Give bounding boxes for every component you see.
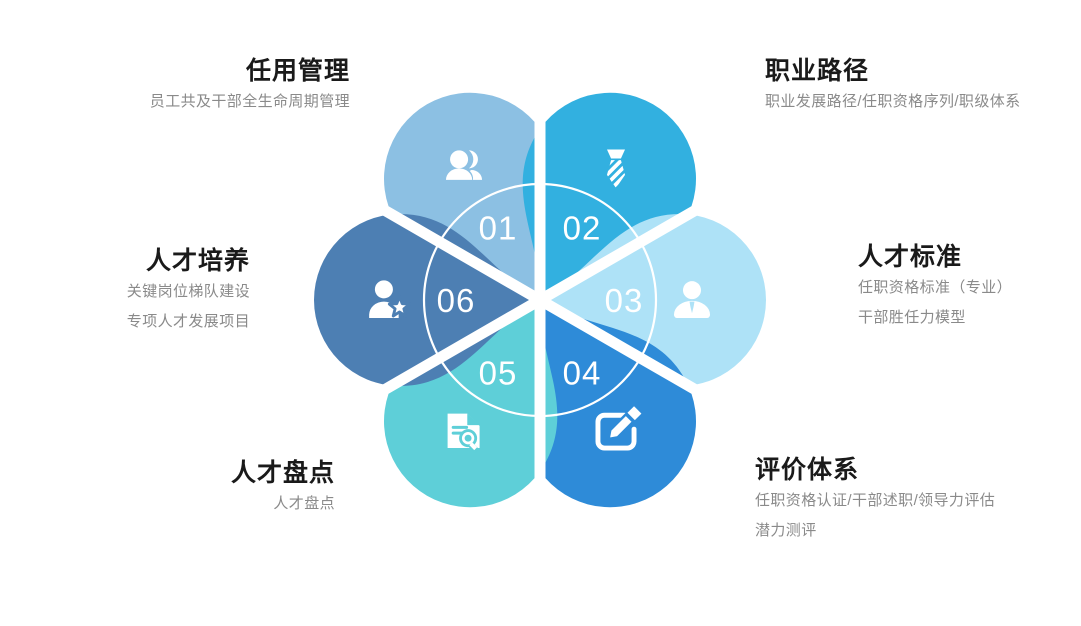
petal-number-01: 01 <box>479 209 518 246</box>
label-desc-04-1: 潜力测评 <box>755 516 1075 545</box>
label-desc-02-0: 职业发展路径/任职资格序列/职级体系 <box>765 87 1075 116</box>
label-title-01: 任用管理 <box>60 56 350 87</box>
diagram-canvas: 010203040506 任用管理 员工共及干部全生命周期管理 职业路径 职业发… <box>0 0 1081 626</box>
label-desc-06-1: 专项人才发展项目 <box>40 307 250 336</box>
label-block-01: 任用管理 员工共及干部全生命周期管理 <box>60 56 350 117</box>
label-desc-05-0: 人才盘点 <box>120 489 335 518</box>
label-block-06: 人才培养 关键岗位梯队建设 专项人才发展项目 <box>40 246 250 336</box>
label-desc-03-0: 任职资格标准（专业） <box>858 273 1078 302</box>
label-block-04: 评价体系 任职资格认证/干部述职/领导力评估 潜力测评 <box>755 455 1075 545</box>
label-title-03: 人才标准 <box>858 242 1078 273</box>
petal-number-05: 05 <box>479 355 518 392</box>
label-title-05: 人才盘点 <box>120 458 335 489</box>
petal-number-02: 02 <box>563 209 602 246</box>
label-block-02: 职业路径 职业发展路径/任职资格序列/职级体系 <box>765 56 1075 117</box>
label-desc-04-0: 任职资格认证/干部述职/领导力评估 <box>755 486 1075 515</box>
petal-number-06: 06 <box>437 282 476 319</box>
label-title-02: 职业路径 <box>765 56 1075 87</box>
petal-number-04: 04 <box>563 355 602 392</box>
label-desc-06-0: 关键岗位梯队建设 <box>40 277 250 306</box>
petal-number-03: 03 <box>605 282 644 319</box>
label-desc-01-0: 员工共及干部全生命周期管理 <box>60 87 350 116</box>
label-block-03: 人才标准 任职资格标准（专业） 干部胜任力模型 <box>858 242 1078 332</box>
label-block-05: 人才盘点 人才盘点 <box>120 458 335 519</box>
label-title-06: 人才培养 <box>40 246 250 277</box>
label-title-04: 评价体系 <box>755 455 1075 486</box>
label-desc-03-1: 干部胜任力模型 <box>858 303 1078 332</box>
